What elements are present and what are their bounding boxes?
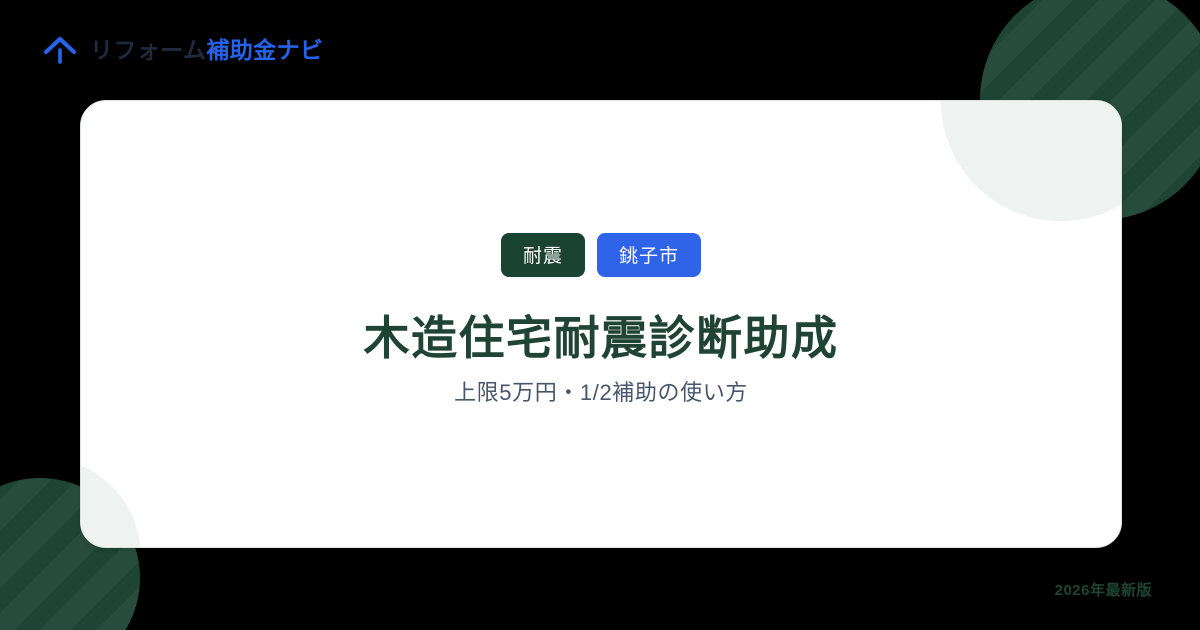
og-image-canvas: リフォーム補助金ナビ 耐震 銚子市 木造住宅耐震診断助成 上限5万円・1/2補助… <box>0 0 1200 630</box>
badge-row: 耐震 銚子市 <box>501 233 701 277</box>
logo-word-primary: リフォーム <box>90 37 206 63</box>
card-tint-top-right <box>941 100 1122 221</box>
site-logo[interactable]: リフォーム補助金ナビ <box>40 30 323 70</box>
edition-note: 2026年最新版 <box>1055 579 1152 600</box>
card-tint-bottom-left <box>80 457 141 548</box>
logo-wordmark: リフォーム補助金ナビ <box>90 39 323 62</box>
logo-word-accent: 補助金ナビ <box>206 37 323 63</box>
hero-card: 耐震 銚子市 木造住宅耐震診断助成 上限5万円・1/2補助の使い方 <box>80 100 1122 548</box>
hero-card-content: 耐震 銚子市 木造住宅耐震診断助成 上限5万円・1/2補助の使い方 <box>364 233 839 408</box>
badge-region[interactable]: 銚子市 <box>597 233 701 277</box>
house-roof-up-arrow-icon <box>40 30 80 70</box>
page-subtitle: 上限5万円・1/2補助の使い方 <box>454 379 748 408</box>
page-title: 木造住宅耐震診断助成 <box>364 311 839 365</box>
badge-category[interactable]: 耐震 <box>501 233 585 277</box>
